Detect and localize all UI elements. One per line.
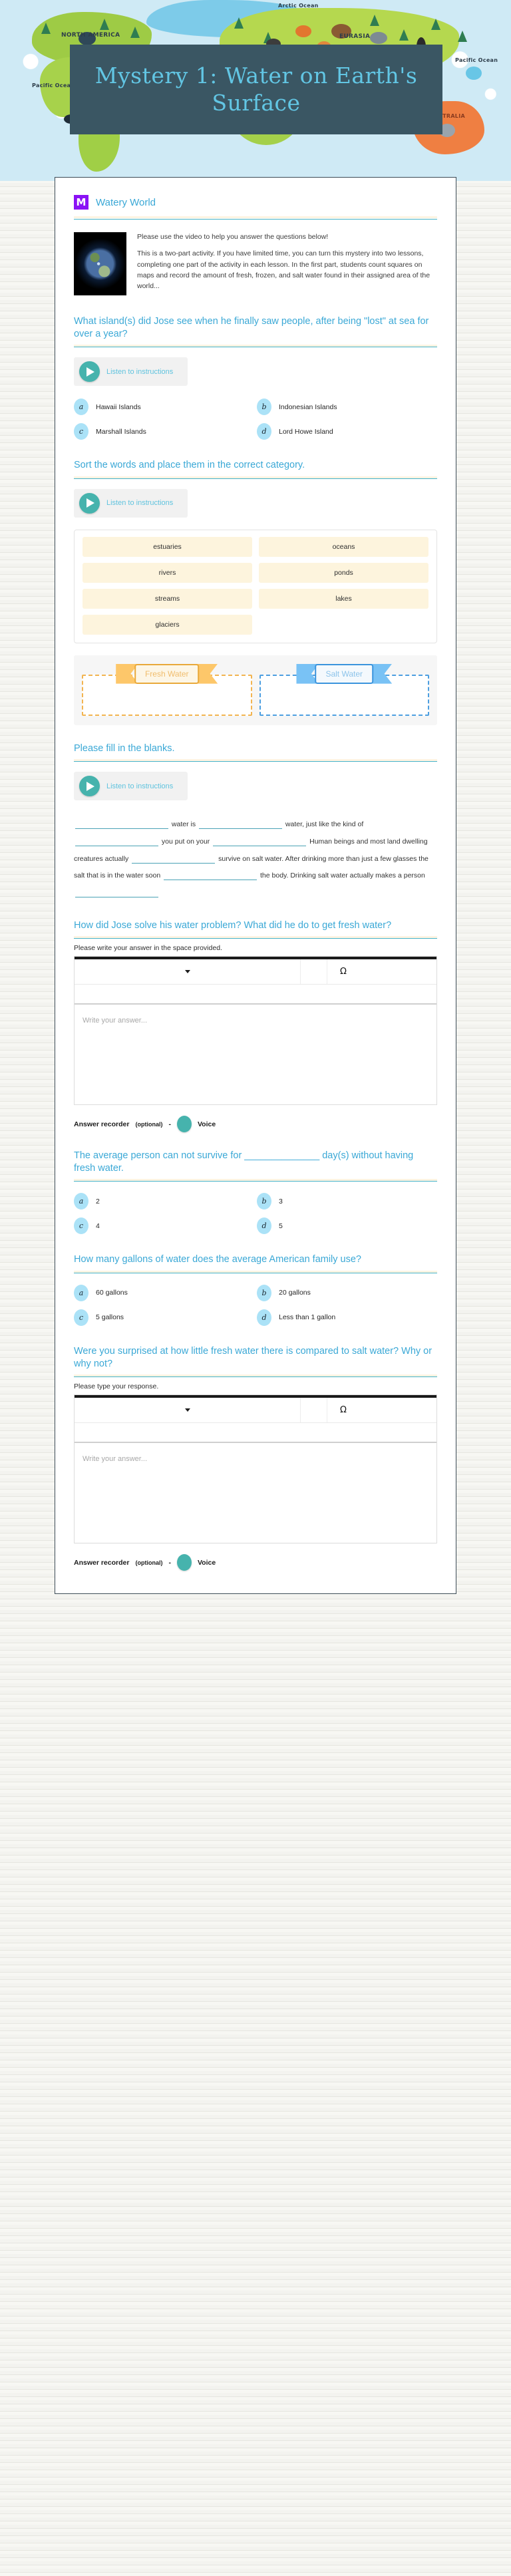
option-a[interactable]: a Hawaii Islands [74,397,254,417]
header-banner: Arctic Ocean NORTH AMERICA EURASIA Pacif… [0,0,511,181]
question-title: How many gallons of water does the avera… [74,1253,437,1266]
font-select-dropdown[interactable] [75,1398,301,1422]
tree-icon [399,29,409,41]
rich-text-answer-box: Ω Write your answer... [74,1394,437,1543]
answer-textarea[interactable]: Write your answer... [75,1005,436,1104]
answer-recorder-label: Answer recorder [74,1120,129,1128]
answer-recorder-dash: - [168,1559,171,1567]
option-letter-bubble: b [257,1285,271,1301]
question-block-q2: Sort the words and place them in the cor… [74,459,437,725]
option-label: Indonesian Islands [279,403,337,411]
tree-icon [458,31,467,42]
answer-instruction: Please write your answer in the space pr… [74,944,437,952]
option-label: 60 gallons [96,1289,128,1297]
question-block-q4: How did Jose solve his water problem? Wh… [74,919,437,1133]
map-label-arctic-ocean: Arctic Ocean [278,3,319,9]
word-chip[interactable]: estuaries [83,537,252,557]
record-button-icon[interactable] [177,1116,192,1132]
fib-text-3: you put on your [160,838,212,846]
editor-toolbar: Ω [75,1398,436,1423]
chevron-down-icon [185,1408,190,1412]
divider-teal [74,761,437,762]
answer-recorder-row: Answer recorder (optional) - Voice [74,1116,437,1132]
special-character-icon[interactable]: Ω [327,1398,359,1422]
question-block-q1: What island(s) did Jose see when he fina… [74,315,437,442]
question-block-q7: Were you surprised at how little fresh w… [74,1345,437,1571]
fib-text-2: water, just like the kind of [283,820,363,828]
map-label-pacific-ocean-left: Pacific Ocean [32,82,75,88]
toolbar-spacer [301,1398,327,1422]
wolf-icon [370,32,387,44]
answer-instruction: Please type your response. [74,1382,437,1390]
fill-in-blanks-paragraph: water is water, just like the kind of yo… [74,816,437,902]
option-letter-bubble: a [74,1193,88,1209]
word-chip[interactable]: glaciers [83,615,252,635]
option-b[interactable]: b 3 [257,1191,437,1211]
answer-textarea[interactable]: Write your answer... [75,1443,436,1543]
option-c[interactable]: c 5 gallons [74,1307,254,1328]
divider-teal [74,219,437,220]
fib-text-6: the body. Drinking salt water actually m… [258,872,425,880]
option-letter-bubble: c [74,1309,88,1326]
blank-input-5[interactable] [132,863,215,864]
answer-placeholder: Write your answer... [83,1017,147,1025]
category-ribbon: Fresh Water [116,664,218,684]
earth-image [74,232,126,295]
option-letter-bubble: d [257,1217,271,1234]
divider-teal [74,1181,437,1182]
answer-options: a Hawaii Islands b Indonesian Islands c … [74,397,437,442]
answer-options: a 2 b 3 c 4 d 5 [74,1191,437,1236]
option-label: 4 [96,1222,100,1230]
toolbar-empty [359,1398,436,1422]
option-d[interactable]: d 5 [257,1215,437,1236]
divider-teal [74,938,437,939]
option-a[interactable]: a 2 [74,1191,254,1211]
answer-recorder-row: Answer recorder (optional) - Voice [74,1554,437,1571]
option-letter-bubble: b [257,1193,271,1209]
option-b[interactable]: b Indonesian Islands [257,397,437,417]
category-drop-zones: Fresh Water Salt Water [74,655,437,725]
option-label: 2 [96,1198,100,1206]
listen-button-label: Listen to instructions [106,499,173,507]
answer-recorder-mode: Voice [198,1559,216,1567]
editor-toolbar: Ω [75,959,436,985]
word-chip-empty-slot [259,615,428,635]
option-b[interactable]: b 20 gallons [257,1283,437,1303]
listen-to-instructions-button[interactable]: Listen to instructions [74,489,188,518]
question-title: Were you surprised at how little fresh w… [74,1345,437,1370]
question-block-q5: The average person can not survive for _… [74,1150,437,1236]
lesson-title-plate: Mystery 1: Water on Earth's Surface [70,45,442,134]
tree-icon [41,23,51,34]
record-button-icon[interactable] [177,1554,192,1571]
divider-teal [74,347,437,347]
question-block-q6: How many gallons of water does the avera… [74,1253,437,1328]
play-icon[interactable] [79,493,100,514]
tree-icon [431,19,440,30]
worksheet-card: M Watery World Please use the video to h… [55,177,456,1594]
category-label: Salt Water [315,664,373,684]
blank-input-6[interactable] [164,880,257,880]
tree-icon [370,15,379,26]
option-letter-bubble: c [74,423,88,440]
word-chip[interactable]: oceans [259,537,428,557]
divider-teal [74,1376,437,1377]
listen-to-instructions-button[interactable]: Listen to instructions [74,772,188,800]
divider-teal [74,478,437,479]
editor-toolbar-row-2 [75,985,436,1005]
option-label: Lord Howe Island [279,428,333,436]
option-d[interactable]: d Lord Howe Island [257,421,437,442]
blank-input-2[interactable] [199,828,282,829]
option-label: Marshall Islands [96,428,146,436]
answer-recorder-dash: - [168,1120,171,1128]
editor-toolbar-row-2 [75,1423,436,1443]
fib-text-1: water is [170,820,198,828]
answer-options: a 60 gallons b 20 gallons c 5 gallons d … [74,1283,437,1328]
lesson-title: Mystery 1: Water on Earth's Surface [70,63,442,116]
toolbar-spacer [301,959,327,984]
page: Arctic Ocean NORTH AMERICA EURASIA Pacif… [0,0,511,1594]
option-letter-bubble: a [74,399,88,415]
toolbar-empty [359,959,436,984]
play-icon[interactable] [79,776,100,796]
intro-block: Please use the video to help you answer … [74,232,437,298]
font-select-dropdown[interactable] [75,959,301,984]
listen-button-label: Listen to instructions [106,782,173,790]
play-icon[interactable] [79,361,100,382]
option-letter-bubble: a [74,1285,88,1301]
word-chip[interactable]: streams [83,589,252,609]
option-letter-bubble: c [74,1217,88,1234]
intro-paragraph-2: This is a two-part activity. If you have… [74,248,437,291]
divider-orange [74,216,437,218]
blank-input-7[interactable] [75,897,158,897]
answer-recorder-label: Answer recorder [74,1559,129,1567]
answer-recorder-mode: Voice [198,1120,216,1128]
option-label: 3 [279,1198,283,1206]
category-ribbon: Salt Water [296,664,392,684]
octopus-icon [466,67,482,80]
blank-input-1[interactable] [75,828,168,829]
question-block-q3: Please fill in the blanks. Listen to ins… [74,742,437,902]
option-letter-bubble: d [257,1309,271,1326]
blank-input-3[interactable] [75,846,158,846]
intro-paragraph-1: Please use the video to help you answer … [74,232,437,242]
question-title: The average person can not survive for _… [74,1150,437,1174]
fox-icon [295,25,311,37]
drop-zone-fresh-water[interactable]: Fresh Water [82,664,252,716]
mystery-science-logo-icon: M [74,195,88,210]
map-label-pacific-ocean-right: Pacific Ocean [455,57,498,63]
chevron-down-icon [185,970,190,973]
word-chip[interactable]: ponds [259,563,428,583]
question-title: Sort the words and place them in the cor… [74,459,437,472]
tree-icon [234,17,244,29]
word-bank: estuaries oceans rivers ponds streams la… [74,530,437,643]
answer-recorder-optional: (optional) [135,1559,162,1566]
word-chip[interactable]: lakes [259,589,428,609]
worksheet-header: M Watery World [74,195,437,210]
answer-placeholder: Write your answer... [83,1455,147,1463]
option-letter-bubble: d [257,423,271,440]
listen-button-label: Listen to instructions [106,368,173,376]
option-c[interactable]: c Marshall Islands [74,421,254,442]
option-label: 20 gallons [279,1289,311,1297]
option-label: Less than 1 gallon [279,1313,335,1321]
option-letter-bubble: b [257,399,271,415]
rich-text-answer-box: Ω Write your answer... [74,956,437,1105]
drop-zone-salt-water[interactable]: Salt Water [259,664,430,716]
option-label: 5 gallons [96,1313,124,1321]
blank-input-4[interactable] [213,846,306,846]
map-label-eurasia: EURASIA [339,33,370,40]
answer-recorder-optional: (optional) [135,1121,162,1128]
question-title: How did Jose solve his water problem? Wh… [74,919,437,932]
category-label: Fresh Water [134,664,200,684]
tree-icon [130,27,140,38]
option-c[interactable]: c 4 [74,1215,254,1236]
special-character-icon[interactable]: Ω [327,959,359,984]
tree-icon [100,19,109,30]
divider-teal [74,1273,437,1273]
option-label: Hawaii Islands [96,403,141,411]
option-d[interactable]: d Less than 1 gallon [257,1307,437,1328]
map-label-north-america: NORTH AMERICA [61,32,120,39]
option-a[interactable]: a 60 gallons [74,1283,254,1303]
word-chip[interactable]: rivers [83,563,252,583]
listen-to-instructions-button[interactable]: Listen to instructions [74,357,188,386]
question-title: Please fill in the blanks. [74,742,437,755]
worksheet-title: Watery World [96,197,156,208]
option-label: 5 [279,1222,283,1230]
question-title: What island(s) did Jose see when he fina… [74,315,437,340]
